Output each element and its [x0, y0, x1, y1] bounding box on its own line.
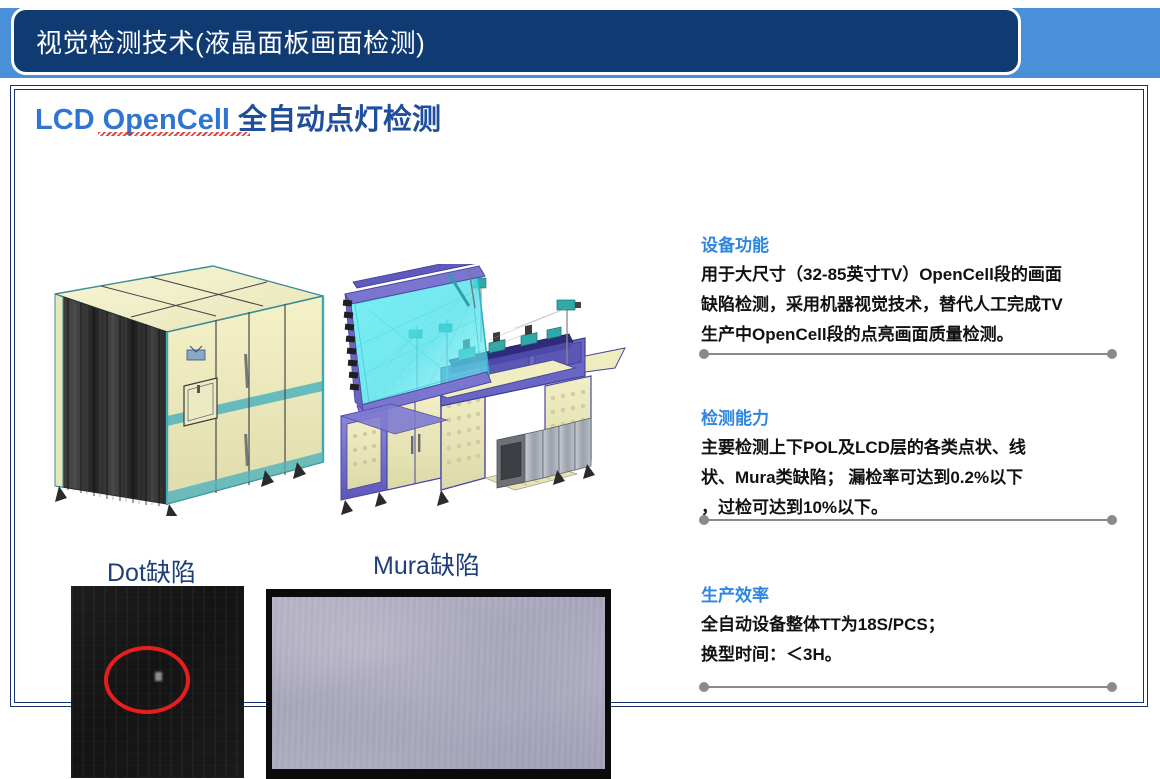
spellcheck-squiggle-icon: [98, 132, 250, 136]
inspection-station-illustration: [329, 264, 631, 516]
mura-defect-caption: Mura缺陷: [373, 546, 480, 582]
info-line: 主要检测上下POL及LCD层的各类点状、线: [701, 438, 1026, 457]
info-line: 状、Mura类缺陷； 漏检率可达到0.2%以下: [701, 468, 1023, 487]
info-line: 全自动设备整体TT为18S/PCS；: [701, 615, 945, 634]
divider-knob-right: [1107, 682, 1117, 692]
divider-line: [705, 519, 1111, 521]
divider-knob-right: [1107, 349, 1117, 359]
info-section-body: 主要检测上下POL及LCD层的各类点状、线 状、Mura类缺陷； 漏检率可达到0…: [701, 433, 1121, 523]
top-banner: 视觉检测技术(液晶面板画面检测): [0, 0, 1160, 78]
info-section-title: 检测能力: [701, 404, 1121, 429]
defect-highlight-ellipse: [104, 646, 190, 714]
banner-title-box: 视觉检测技术(液晶面板画面检测): [14, 10, 1018, 72]
dot-defect-caption: Dot缺陷: [107, 553, 196, 589]
info-section-equipment-function: 设备功能 用于大尺寸（32-85英寸TV）OpenCell段的画面 缺陷检测，采…: [701, 231, 1121, 350]
dot-defect-image: [71, 586, 244, 778]
mura-defect-image: [266, 589, 611, 779]
info-section-body: 用于大尺寸（32-85英寸TV）OpenCell段的画面 缺陷检测，采用机器视觉…: [701, 260, 1121, 350]
divider-line: [705, 353, 1111, 355]
section-divider: [699, 682, 1117, 692]
divider-line: [705, 686, 1111, 688]
section-divider: [699, 349, 1117, 359]
page-title: 视觉检测技术(液晶面板画面检测): [14, 23, 425, 60]
info-section-body: 全自动设备整体TT为18S/PCS； 换型时间：＜3H。: [701, 610, 1121, 670]
slide-heading-cjk: 全自动点灯检测: [238, 104, 441, 136]
info-line: 缺陷检测，采用机器视觉技术，替代人工完成TV: [701, 295, 1063, 314]
info-section-title: 设备功能: [701, 231, 1121, 256]
mura-texture-overlay: [272, 597, 605, 769]
info-line: 用于大尺寸（32-85英寸TV）OpenCell段的画面: [701, 265, 1062, 284]
section-divider: [699, 515, 1117, 525]
info-section-detection-capability: 检测能力 主要检测上下POL及LCD层的各类点状、线 状、Mura类缺陷； 漏检…: [701, 404, 1121, 523]
info-section-production-efficiency: 生产效率 全自动设备整体TT为18S/PCS； 换型时间：＜3H。: [701, 581, 1121, 670]
slide-content-frame: LCD OpenCell 全自动点灯检测: [10, 85, 1148, 707]
divider-knob-right: [1107, 515, 1117, 525]
info-line: 换型时间：＜3H。: [701, 645, 842, 664]
mura-panel-surface: [272, 597, 605, 769]
info-section-title: 生产效率: [701, 581, 1121, 606]
info-line: 生产中OpenCell段的点亮画面质量检测。: [701, 325, 1014, 344]
cabinet-illustration: [41, 254, 333, 516]
